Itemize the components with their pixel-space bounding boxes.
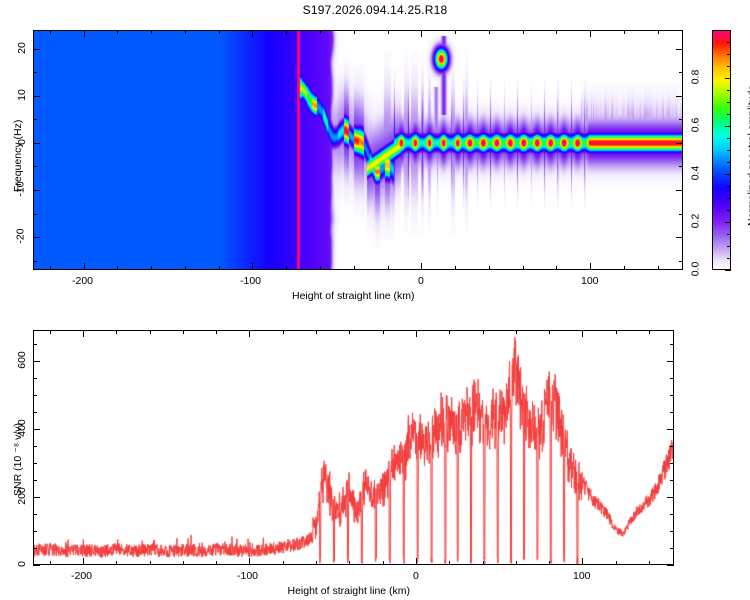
colorbar-tick-label: 0.6 — [689, 118, 701, 133]
y-minor-tick-right — [679, 72, 683, 73]
y-major-tick — [33, 190, 40, 191]
x-minor-tick — [483, 561, 484, 565]
y-minor-tick-right — [679, 261, 683, 262]
y-major-tick-right — [676, 143, 683, 144]
x-major-tick-top — [249, 330, 250, 337]
x-minor-tick — [516, 561, 517, 565]
spectrogram-xlabel: Height of straight line (km) — [292, 290, 415, 302]
x-minor-tick-top — [556, 30, 557, 34]
colorbar-major-tick — [725, 126, 731, 127]
x-minor-tick — [183, 561, 184, 565]
y-minor-tick — [33, 480, 37, 481]
x-major-tick — [249, 558, 250, 565]
y-major-tick-right — [667, 497, 674, 498]
colorbar-minor-tick — [727, 54, 731, 55]
y-minor-tick — [33, 119, 37, 120]
colorbar-minor-tick — [727, 90, 731, 91]
y-major-tick — [33, 49, 40, 50]
x-minor-tick — [185, 266, 186, 270]
x-minor-tick — [649, 561, 650, 565]
y-minor-tick — [33, 214, 37, 215]
x-minor-tick — [50, 266, 51, 270]
x-minor-tick-top — [320, 30, 321, 34]
y-minor-tick-right — [670, 514, 674, 515]
y-minor-tick — [33, 412, 37, 413]
y-minor-tick-right — [670, 446, 674, 447]
y-minor-tick — [33, 548, 37, 549]
y-tick-label: 0 — [16, 561, 28, 567]
y-minor-tick-right — [679, 166, 683, 167]
x-tick-label: 0 — [413, 570, 419, 582]
y-major-tick — [33, 497, 40, 498]
colorbar-minor-tick — [727, 114, 731, 115]
x-major-tick — [84, 263, 85, 270]
x-minor-tick — [383, 561, 384, 565]
spectrogram-image — [34, 31, 682, 269]
y-tick-label: 20 — [16, 42, 28, 54]
x-minor-tick — [388, 266, 389, 270]
snr-axes — [33, 330, 674, 565]
x-minor-tick — [216, 561, 217, 565]
colorbar-minor-tick — [727, 102, 731, 103]
y-minor-tick-right — [670, 480, 674, 481]
x-tick-label: -200 — [71, 570, 92, 582]
y-minor-tick-right — [679, 119, 683, 120]
x-major-tick — [252, 263, 253, 270]
x-minor-tick — [349, 561, 350, 565]
y-tick-label: -20 — [15, 228, 27, 243]
x-major-tick — [83, 558, 84, 565]
x-minor-tick-top — [183, 330, 184, 334]
y-major-tick-right — [676, 49, 683, 50]
x-tick-label: -100 — [240, 275, 261, 287]
spectrogram-axes — [33, 30, 683, 270]
x-minor-tick-top — [483, 330, 484, 334]
y-major-tick — [33, 143, 40, 144]
y-major-tick — [33, 565, 40, 566]
x-minor-tick — [556, 266, 557, 270]
y-major-tick-right — [667, 361, 674, 362]
y-major-tick-right — [676, 190, 683, 191]
x-major-tick — [421, 263, 422, 270]
y-minor-tick-right — [670, 548, 674, 549]
x-minor-tick-top — [616, 330, 617, 334]
x-minor-tick-top — [219, 30, 220, 34]
y-minor-tick — [33, 166, 37, 167]
x-minor-tick-top — [349, 330, 350, 334]
colorbar-minor-tick — [727, 186, 731, 187]
x-minor-tick-top — [449, 330, 450, 334]
y-major-tick — [33, 361, 40, 362]
spectrogram-ylabel: Frequency (Hz) — [12, 120, 24, 192]
y-tick-label: 10 — [16, 89, 28, 101]
y-minor-tick — [33, 463, 37, 464]
y-tick-label: 600 — [16, 351, 28, 369]
colorbar-minor-tick — [727, 30, 731, 31]
x-minor-tick-top — [150, 330, 151, 334]
colorbar-minor-tick — [727, 66, 731, 67]
y-minor-tick — [33, 446, 37, 447]
y-minor-tick-right — [670, 463, 674, 464]
x-minor-tick-top — [383, 330, 384, 334]
x-minor-tick-top — [286, 30, 287, 34]
x-major-tick-top — [421, 30, 422, 37]
x-minor-tick-top — [549, 330, 550, 334]
y-minor-tick — [33, 531, 37, 532]
x-major-tick-top — [582, 330, 583, 337]
snr-xlabel: Height of straight line (km) — [288, 585, 411, 597]
y-minor-tick — [33, 395, 37, 396]
x-minor-tick — [151, 266, 152, 270]
x-tick-label: 0 — [418, 275, 424, 287]
x-minor-tick-top — [516, 330, 517, 334]
colorbar-minor-tick — [727, 150, 731, 151]
y-minor-tick — [33, 261, 37, 262]
y-major-tick — [33, 429, 40, 430]
snr-trace — [34, 331, 673, 564]
x-minor-tick-top — [624, 30, 625, 34]
x-minor-tick — [624, 266, 625, 270]
x-minor-tick — [219, 266, 220, 270]
x-tick-label: -200 — [72, 275, 93, 287]
x-minor-tick-top — [216, 330, 217, 334]
colorbar-label: Normalized spectral amplitude — [746, 85, 750, 226]
page-title: S197.2026.094.14.25.R18 — [0, 3, 750, 17]
y-minor-tick-right — [670, 395, 674, 396]
x-minor-tick-top — [523, 30, 524, 34]
x-minor-tick — [116, 561, 117, 565]
x-major-tick — [590, 263, 591, 270]
x-minor-tick — [150, 561, 151, 565]
x-minor-tick-top — [50, 30, 51, 34]
x-major-tick-top — [83, 330, 84, 337]
x-major-tick-top — [590, 30, 591, 37]
x-minor-tick-top — [283, 330, 284, 334]
colorbar-major-tick — [725, 222, 731, 223]
colorbar-minor-tick — [727, 162, 731, 163]
colorbar-minor-tick — [727, 258, 731, 259]
y-major-tick-right — [667, 565, 674, 566]
colorbar-minor-tick — [727, 246, 731, 247]
y-minor-tick-right — [670, 344, 674, 345]
y-minor-tick-right — [679, 214, 683, 215]
colorbar-minor-tick — [727, 138, 731, 139]
colorbar-minor-tick — [727, 198, 731, 199]
x-minor-tick-top — [50, 330, 51, 334]
x-minor-tick-top — [117, 30, 118, 34]
x-major-tick — [416, 558, 417, 565]
x-minor-tick — [286, 266, 287, 270]
x-minor-tick — [489, 266, 490, 270]
x-minor-tick-top — [316, 330, 317, 334]
x-minor-tick — [449, 561, 450, 565]
x-major-tick-top — [252, 30, 253, 37]
colorbar-minor-tick — [727, 234, 731, 235]
x-minor-tick — [455, 266, 456, 270]
colorbar-tick-label: 0.8 — [689, 70, 701, 85]
y-minor-tick — [33, 72, 37, 73]
colorbar-tick-label: 0.0 — [689, 262, 701, 277]
y-minor-tick — [33, 344, 37, 345]
snr-ylabel: SNR (10 ⁻⁸ v/v) — [12, 423, 24, 496]
colorbar-tick-label: 0.2 — [689, 214, 701, 229]
x-minor-tick-top — [388, 30, 389, 34]
x-minor-tick — [117, 266, 118, 270]
figure-root: S197.2026.094.14.25.R18 -200-1000100-20-… — [0, 0, 750, 600]
y-major-tick-right — [676, 96, 683, 97]
colorbar-minor-tick — [727, 210, 731, 211]
x-minor-tick — [523, 266, 524, 270]
colorbar-major-tick — [725, 78, 731, 79]
x-minor-tick-top — [658, 30, 659, 34]
colorbar-minor-tick — [727, 42, 731, 43]
x-tick-label: -100 — [237, 570, 258, 582]
y-major-tick — [33, 237, 40, 238]
x-minor-tick — [50, 561, 51, 565]
x-minor-tick-top — [151, 30, 152, 34]
y-minor-tick-right — [670, 412, 674, 413]
x-minor-tick-top — [455, 30, 456, 34]
x-major-tick — [582, 558, 583, 565]
x-minor-tick-top — [489, 30, 490, 34]
x-minor-tick — [316, 561, 317, 565]
colorbar-major-tick — [725, 174, 731, 175]
x-minor-tick-top — [116, 330, 117, 334]
x-minor-tick — [354, 266, 355, 270]
y-major-tick-right — [667, 429, 674, 430]
y-minor-tick — [33, 514, 37, 515]
colorbar-major-tick — [725, 270, 731, 271]
y-major-tick — [33, 96, 40, 97]
x-minor-tick-top — [649, 330, 650, 334]
y-major-tick-right — [676, 237, 683, 238]
x-tick-label: 100 — [573, 570, 591, 582]
colorbar-tick-label: 0.4 — [689, 166, 701, 181]
x-minor-tick — [320, 266, 321, 270]
x-minor-tick — [549, 561, 550, 565]
x-major-tick-top — [416, 330, 417, 337]
x-tick-label: 100 — [581, 275, 599, 287]
y-minor-tick — [33, 378, 37, 379]
x-minor-tick — [658, 266, 659, 270]
y-minor-tick-right — [670, 378, 674, 379]
x-minor-tick — [283, 561, 284, 565]
x-minor-tick — [616, 561, 617, 565]
y-minor-tick-right — [670, 531, 674, 532]
x-major-tick-top — [84, 30, 85, 37]
x-minor-tick-top — [354, 30, 355, 34]
x-minor-tick-top — [185, 30, 186, 34]
